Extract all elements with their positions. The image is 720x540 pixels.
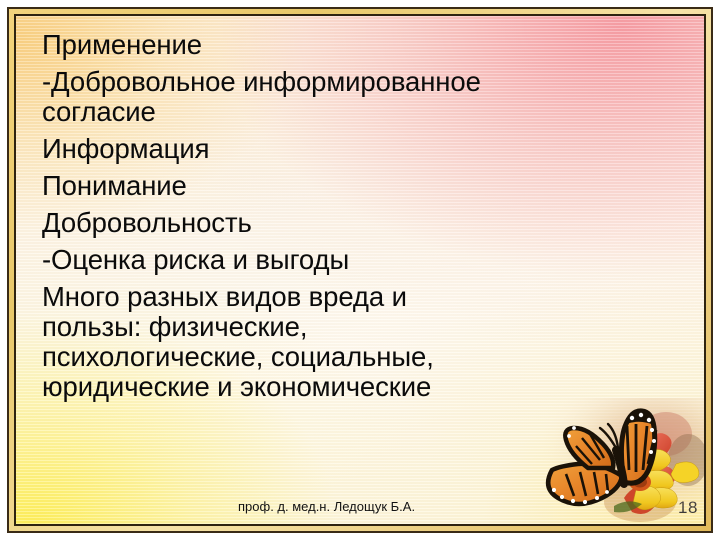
bullet-ponimanie: Понимание <box>42 171 642 201</box>
bullet-informed-consent: -Добровольное информированное согласие <box>42 67 602 127</box>
bullet-dobrovolnost: Добровольность <box>42 208 642 238</box>
bullet-risk-benefit: -Оценка риска и выгоды <box>42 245 642 275</box>
slide-canvas: Применение -Добровольное информированное… <box>16 16 704 524</box>
presentation-slide: Применение -Добровольное информированное… <box>0 0 720 540</box>
bullet-informatsiya: Информация <box>42 134 642 164</box>
slide-number: 18 <box>678 498 698 518</box>
footer-author-credit: проф. д. мед.н. Ледощук Б.А. <box>238 499 415 514</box>
bullet-primenenie: Применение <box>42 30 642 60</box>
bullet-types-of-harm-benefit: Много разных видов вреда и пользы: физич… <box>42 282 512 402</box>
slide-body-content: Применение -Добровольное информированное… <box>42 30 642 410</box>
